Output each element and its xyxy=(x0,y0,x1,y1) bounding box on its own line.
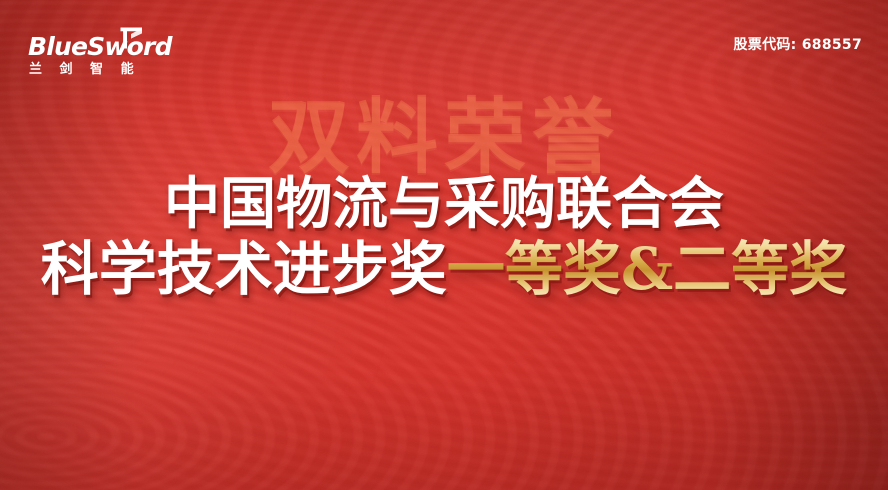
logo-wordmark: BlueSword xyxy=(28,34,172,59)
award-title-line-2-white: 科学技术进步奖 xyxy=(41,235,447,303)
award-title-block: 中国物流与采购联合会 科学技术进步奖一等奖&二等奖 xyxy=(0,176,888,298)
sword-flag-icon xyxy=(118,26,144,50)
award-title-line-1: 中国物流与采购联合会 xyxy=(0,176,888,232)
logo-chinese-name: 兰 剑 智 能 xyxy=(29,63,140,76)
award-banner: BlueSword 兰 剑 智 能 股票代码: 688557 双料荣誉 中国物流… xyxy=(0,0,888,490)
award-title-line-2: 科学技术进步奖一等奖&二等奖 xyxy=(0,240,888,298)
award-title-line-2-gold: 一等奖&二等奖 xyxy=(447,235,847,303)
company-logo[interactable]: BlueSword 兰 剑 智 能 xyxy=(28,24,168,80)
stock-code-label: 股票代码: 688557 xyxy=(733,38,862,52)
